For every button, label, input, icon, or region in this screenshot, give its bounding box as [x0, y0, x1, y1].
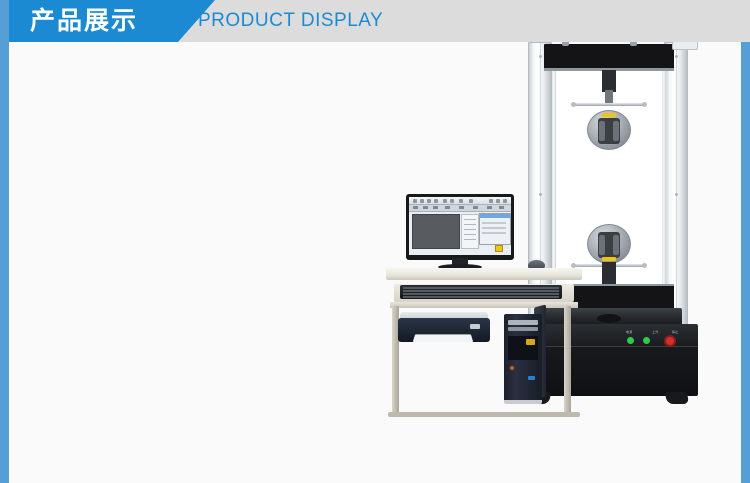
tower-badge-icon: [526, 339, 535, 345]
machine-grip-upper: [587, 110, 631, 150]
machine-foot: [665, 392, 690, 404]
panel-label-up: 上升: [652, 330, 659, 334]
header-title-en: PRODUCT DISPLAY: [198, 9, 383, 33]
machine-crosshead: [544, 44, 674, 70]
green-button-icon[interactable]: [627, 337, 634, 344]
desk-leg-right: [564, 306, 571, 416]
desk-bottom-rail: [388, 412, 580, 417]
panel-label-stop: 停止: [672, 330, 679, 334]
grip-jaw: [598, 118, 620, 144]
software-data-panel: [461, 214, 479, 249]
desk-shelf: [390, 302, 578, 308]
warning-label-icon: [602, 257, 616, 261]
software-secondary-toolbar: [409, 205, 511, 212]
computer-tower: [504, 306, 546, 404]
product-photo: 电源 上升 停止: [386, 24, 734, 434]
tower-led-icon: [528, 376, 535, 380]
emergency-stop-button[interactable]: [664, 335, 676, 347]
header-title-cn: 产品展示: [30, 5, 138, 37]
software-toolbar: [409, 197, 511, 205]
tower-base: [504, 400, 542, 404]
grip-jaw: [598, 232, 620, 258]
machine-handle-bar-upper: [573, 103, 645, 106]
software-dialog: [479, 213, 511, 245]
monitor-screen: [409, 197, 511, 255]
printer: [398, 312, 490, 346]
machine-center-knob: [597, 314, 621, 323]
computer-workstation: [386, 194, 582, 424]
warning-label-icon: [602, 113, 616, 117]
panel-label-power: 电源: [626, 330, 633, 334]
printer-paper-tray: [413, 334, 473, 342]
computer-keyboard: [400, 285, 562, 299]
machine-grip-lower: [587, 224, 631, 264]
page-header: 产品展示 PRODUCT DISPLAY: [0, 0, 750, 42]
monitor: [406, 194, 514, 270]
machine-load-cell-stem: [602, 70, 616, 92]
left-edge-strip: [0, 0, 9, 483]
software-chart-area: [412, 214, 460, 249]
software-status-icon: [495, 245, 503, 252]
tower-power-button[interactable]: [510, 366, 514, 370]
machine-grip-shaft-upper: [605, 90, 613, 104]
product-display-page: 产品展示 PRODUCT DISPLAY ★产品信息 品 牌：恒思盛大 产品型号…: [0, 0, 750, 483]
green-button-icon[interactable]: [643, 337, 650, 344]
desk-top-surface: [386, 268, 582, 280]
printer-logo: [470, 324, 480, 329]
dialog-titlebar: [480, 214, 510, 218]
machine-control-panel: 电源 上升 停止: [626, 330, 686, 346]
tower-drive-bay: [508, 327, 538, 331]
right-edge-strip: [741, 42, 750, 483]
tower-optical-drive: [508, 320, 538, 325]
